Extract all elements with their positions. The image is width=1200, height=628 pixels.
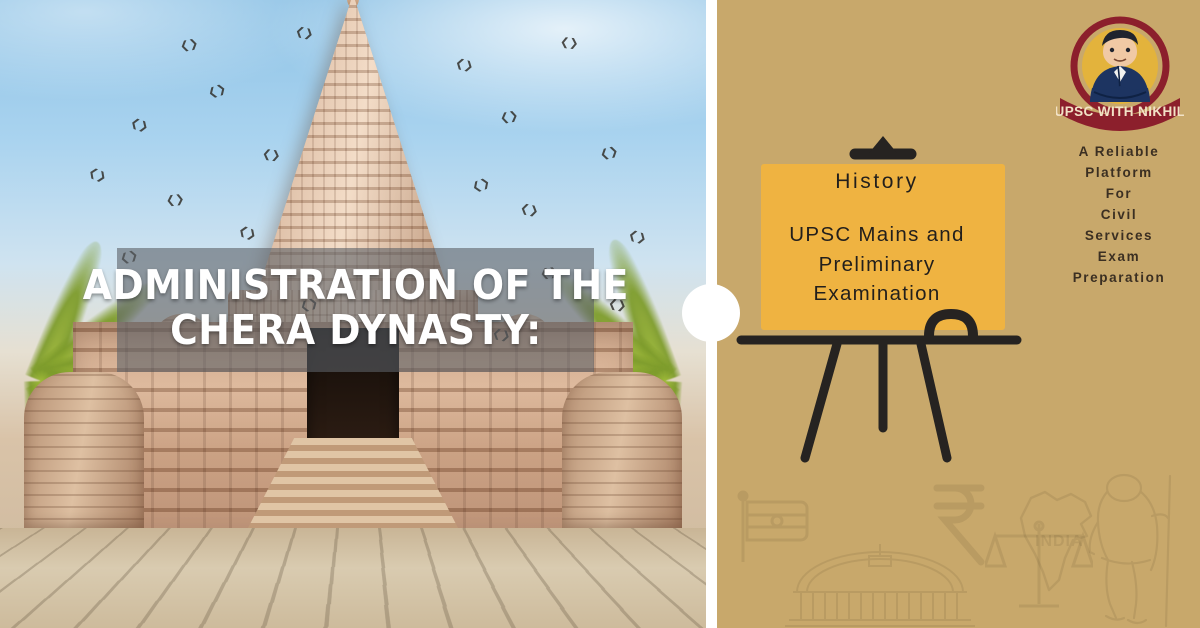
page-title-line-1: ADMINISTRATION OF THE (82, 264, 628, 307)
board-heading: History (767, 170, 987, 194)
board-body: UPSC Mains and Preliminary Examination (767, 220, 987, 309)
temple-side-shrine-left (24, 372, 144, 532)
logo-text: UPSC WITH NIKHIL (1056, 104, 1184, 119)
temple-side-shrine-right (562, 372, 682, 532)
poster-canvas: ❮❯ ❮❯ ❮❯ ❮❯ ❮❯ ❮❯ ❮❯ ❮❯ ❮❯ ❮❯ ❮❯ ❮❯ ❮❯ ❮… (0, 0, 1200, 628)
svg-text:INDIA: INDIA (1035, 533, 1084, 550)
tagline-line-1: A Reliable (1052, 142, 1186, 163)
tagline-line-3: For (1052, 184, 1186, 205)
brand-tagline: A Reliable Platform For Civil Services E… (1052, 142, 1186, 288)
board-content: History UPSC Mains and Preliminary Exami… (767, 170, 987, 309)
bird-icon: ❮❯ (165, 194, 184, 207)
easel-leg-right (921, 344, 947, 458)
easel-leg-left (805, 344, 837, 458)
poster-title-banner: ADMINISTRATION OF THE CHERA DYNASTY: (117, 248, 594, 372)
temple-plaza (0, 528, 706, 628)
tagline-line-6: Exam (1052, 247, 1186, 268)
tagline-line-4: Civil (1052, 205, 1186, 226)
divider-dot (682, 284, 740, 342)
easel-top-clamp (869, 136, 897, 153)
gandhi-figure-icon (1066, 470, 1192, 628)
scales-of-justice-icon (985, 518, 1093, 616)
brand-logo[interactable]: UPSC WITH NIKHIL (1056, 14, 1184, 134)
rupee-symbol-icon (929, 478, 991, 570)
board-body-line-3: Examination (767, 279, 987, 309)
indian-flag-icon (735, 490, 813, 564)
temple-photo-panel: ❮❯ ❮❯ ❮❯ ❮❯ ❮❯ ❮❯ ❮❯ ❮❯ ❮❯ ❮❯ ❮❯ ❮❯ ❮❯ ❮… (0, 0, 706, 628)
tagline-line-2: Platform (1052, 163, 1186, 184)
bird-icon: ❮❯ (261, 149, 281, 162)
page-title-line-2: CHERA DYNASTY: (170, 309, 541, 352)
tagline-line-7: Preparation (1052, 268, 1186, 289)
india-map-icon: INDIA (1015, 484, 1097, 594)
board-body-line-2: Preliminary (767, 250, 987, 280)
parliament-building-icon (785, 542, 975, 628)
info-panel: INDIA (717, 0, 1200, 628)
bird-icon: ❮❯ (559, 37, 578, 50)
board-body-line-1: UPSC Mains and (767, 220, 987, 250)
tagline-line-5: Services (1052, 226, 1186, 247)
